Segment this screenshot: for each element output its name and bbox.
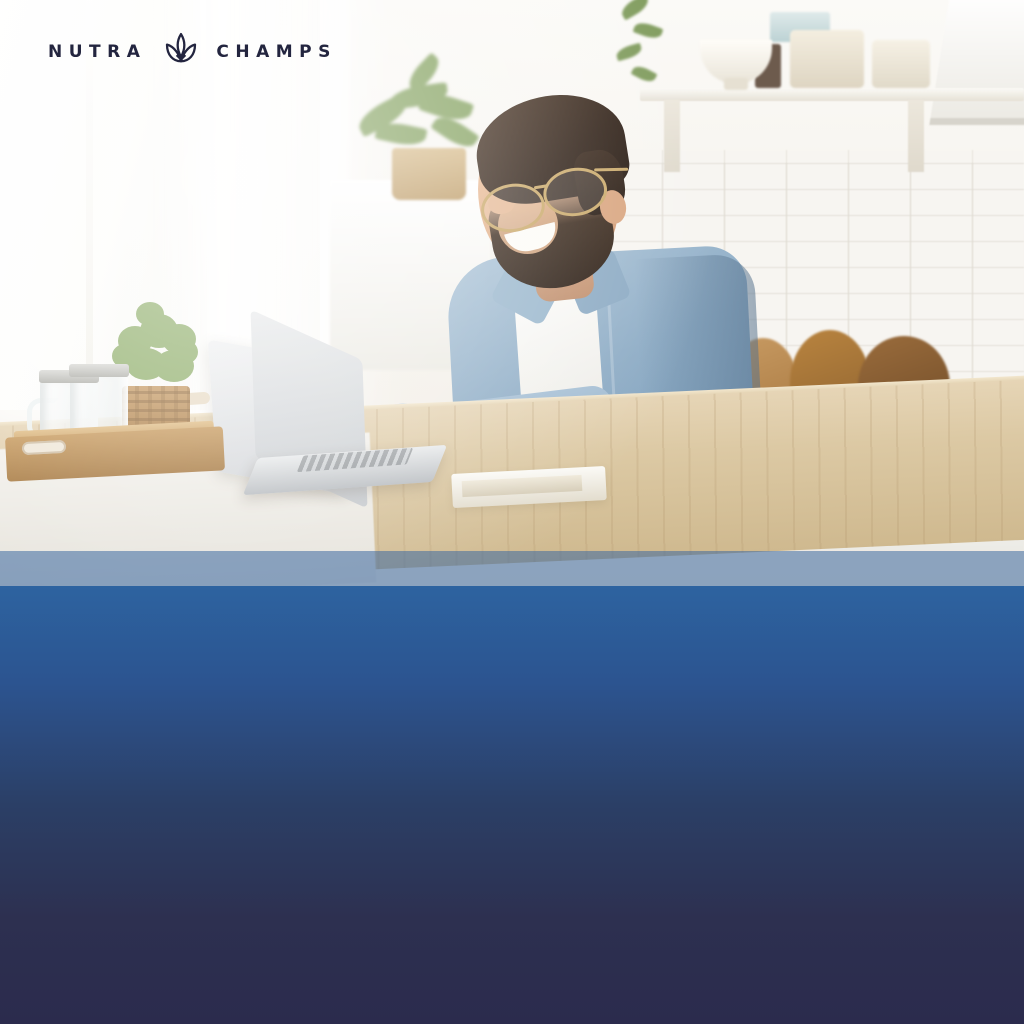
tray-handle — [22, 440, 67, 455]
jar-lid — [69, 364, 129, 377]
brand-word-right: CHAMPS — [216, 42, 336, 62]
benefits-panel: Enhanced Mood — [0, 586, 1024, 1024]
brand-word-left: NUTRA — [48, 42, 146, 62]
hero-photo — [0, 0, 1024, 586]
lotus-logo-icon — [160, 28, 202, 75]
translucent-blue-band — [0, 551, 1024, 586]
brand-logo[interactable]: NUTRA CHAMPS — [48, 28, 337, 75]
product-benefit-graphic: NUTRA CHAMPS Enhanced Mood — [0, 0, 1024, 1024]
